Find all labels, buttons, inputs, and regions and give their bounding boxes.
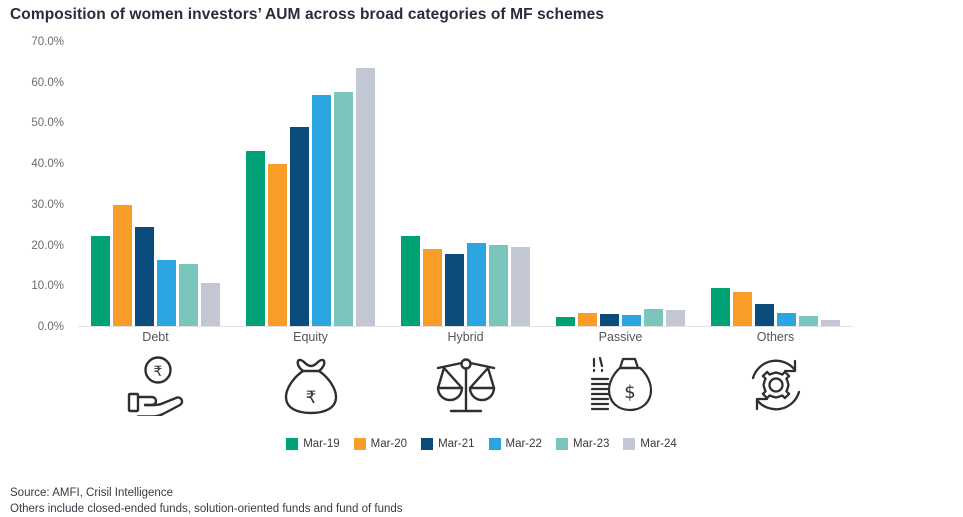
bar-group-hybrid (388, 41, 543, 326)
y-axis-tick-label: 40.0% (31, 158, 64, 170)
chart-footer: Source: AMFI, Crisil Intelligence Others… (10, 485, 403, 517)
bar-group-passive (543, 41, 698, 326)
bar-debt-mar-20[interactable] (113, 205, 132, 326)
x-axis-label-debt: Debt (142, 330, 168, 344)
money-bag-rupee-icon: ₹ (275, 352, 347, 418)
legend-item-mar-21[interactable]: Mar-21 (421, 438, 474, 450)
source-note: Source: AMFI, Crisil Intelligence (10, 485, 403, 501)
bar-passive-mar-23[interactable] (644, 309, 663, 326)
bar-equity-mar-24[interactable] (356, 68, 375, 326)
bar-passive-mar-22[interactable] (622, 315, 641, 326)
bar-debt-mar-19[interactable] (91, 236, 110, 326)
legend-label-mar-23: Mar-23 (573, 438, 609, 450)
x-axis-label-passive: Passive (599, 330, 643, 344)
bar-hybrid-mar-19[interactable] (401, 236, 420, 326)
bar-debt-mar-23[interactable] (179, 264, 198, 326)
bar-hybrid-mar-23[interactable] (489, 245, 508, 326)
bar-group-others (698, 41, 853, 326)
legend-swatch-mar-21 (421, 438, 433, 450)
bar-hybrid-mar-22[interactable] (467, 243, 486, 326)
legend-swatch-mar-23 (556, 438, 568, 450)
x-axis-label-hybrid: Hybrid (447, 330, 483, 344)
bar-passive-mar-21[interactable] (600, 314, 619, 326)
bar-equity-mar-23[interactable] (334, 92, 353, 326)
legend-item-mar-20[interactable]: Mar-20 (354, 438, 407, 450)
bar-others-mar-24[interactable] (821, 320, 840, 327)
category-icon-row: ₹₹$ (78, 352, 853, 422)
chart-plot-wrapper: 0.0%10.0%20.0%30.0%40.0%50.0%60.0%70.0% (0, 42, 963, 332)
y-axis: 0.0%10.0%20.0%30.0%40.0%50.0%60.0%70.0% (0, 42, 72, 327)
bar-equity-mar-20[interactable] (268, 164, 287, 326)
bar-equity-mar-22[interactable] (312, 95, 331, 326)
y-axis-tick-label: 20.0% (31, 240, 64, 252)
y-axis-tick-label: 10.0% (31, 280, 64, 292)
legend-swatch-mar-20 (354, 438, 366, 450)
legend-label-mar-19: Mar-19 (303, 438, 339, 450)
bar-others-mar-22[interactable] (777, 313, 796, 326)
x-axis-label-others: Others (757, 330, 795, 344)
x-axis-label-equity: Equity (293, 330, 328, 344)
y-axis-tick-label: 0.0% (38, 321, 64, 333)
gear-refresh-cycle-icon (740, 352, 812, 418)
plot-area (78, 42, 853, 327)
y-axis-tick-label: 60.0% (31, 77, 64, 89)
legend-label-mar-22: Mar-22 (506, 438, 542, 450)
bar-passive-mar-20[interactable] (578, 313, 597, 326)
bar-group-debt (78, 41, 233, 326)
legend-item-mar-22[interactable]: Mar-22 (489, 438, 542, 450)
bar-equity-mar-21[interactable] (290, 127, 309, 326)
bar-passive-mar-19[interactable] (556, 317, 575, 326)
bar-others-mar-20[interactable] (733, 292, 752, 326)
bar-others-mar-23[interactable] (799, 316, 818, 326)
legend-label-mar-20: Mar-20 (371, 438, 407, 450)
x-axis-category-labels: DebtEquityHybridPassiveOthers (78, 330, 853, 352)
legend-item-mar-23[interactable]: Mar-23 (556, 438, 609, 450)
page-title: Composition of women investors’ AUM acro… (10, 6, 604, 24)
legend-item-mar-24[interactable]: Mar-24 (623, 438, 676, 450)
bar-passive-mar-24[interactable] (666, 310, 685, 326)
bar-debt-mar-22[interactable] (157, 260, 176, 326)
bar-equity-mar-19[interactable] (246, 151, 265, 326)
others-definition-note: Others include closed-ended funds, solut… (10, 501, 403, 517)
bar-debt-mar-21[interactable] (135, 227, 154, 326)
y-axis-tick-label: 30.0% (31, 199, 64, 211)
money-bag-dollar-chart-icon: $ (585, 352, 657, 418)
hand-holding-rupee-coin-icon: ₹ (120, 352, 192, 418)
chart-legend: Mar-19Mar-20Mar-21Mar-22Mar-23Mar-24 (0, 438, 963, 450)
y-axis-tick-label: 70.0% (31, 36, 64, 48)
legend-swatch-mar-19 (286, 438, 298, 450)
legend-swatch-mar-22 (489, 438, 501, 450)
bar-hybrid-mar-20[interactable] (423, 249, 442, 326)
legend-item-mar-19[interactable]: Mar-19 (286, 438, 339, 450)
bar-debt-mar-24[interactable] (201, 283, 220, 326)
balance-scale-icon (430, 352, 502, 418)
legend-label-mar-24: Mar-24 (640, 438, 676, 450)
legend-swatch-mar-24 (623, 438, 635, 450)
svg-text:$: $ (624, 382, 635, 403)
bar-hybrid-mar-21[interactable] (445, 254, 464, 326)
bar-others-mar-19[interactable] (711, 288, 730, 326)
bar-group-equity (233, 41, 388, 326)
y-axis-tick-label: 50.0% (31, 117, 64, 129)
svg-text:₹: ₹ (153, 364, 162, 380)
svg-text:₹: ₹ (305, 388, 316, 408)
bar-others-mar-21[interactable] (755, 304, 774, 326)
legend-label-mar-21: Mar-21 (438, 438, 474, 450)
bar-hybrid-mar-24[interactable] (511, 247, 530, 326)
